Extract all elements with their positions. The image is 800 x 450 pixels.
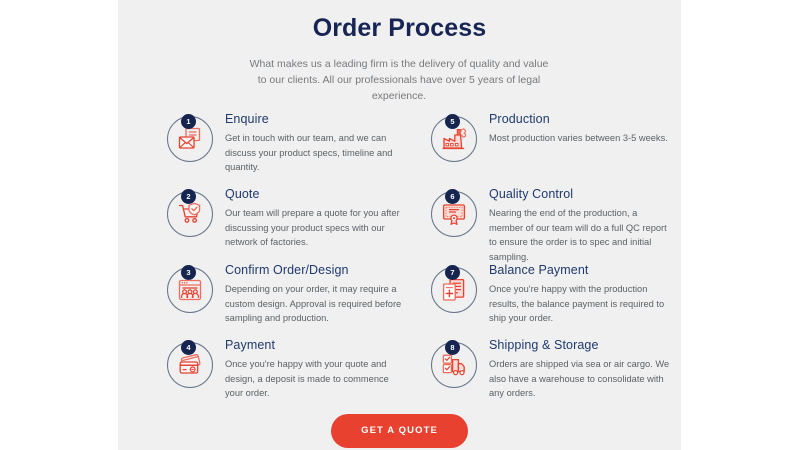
section-subtitle: What makes us a leading firm is the deli… [249, 56, 549, 104]
certificate-award-icon [441, 201, 467, 227]
credit-cards-icon [177, 352, 203, 378]
step-title-7: Balance Payment [489, 263, 673, 277]
step-icon-circle-8: 8 [431, 342, 477, 388]
step-description-1: Get in touch with our team, and we can d… [225, 131, 409, 175]
step-icon-circle-3: 3 [167, 267, 213, 313]
step-number-badge-3: 3 [181, 265, 196, 280]
step-title-3: Confirm Order/Design [225, 263, 409, 277]
step-description-2: Our team will prepare a quote for you af… [225, 206, 409, 250]
step-icon-circle-2: 2 [167, 191, 213, 237]
step-description-8: Orders are shipped via sea or air cargo.… [489, 357, 673, 401]
step-description-6: Nearing the end of the production, a mem… [489, 206, 673, 264]
step-title-4: Payment [225, 338, 409, 352]
steps-column-left: 1 Enquire Get [159, 112, 409, 401]
step-item-7: 7 Balance [423, 263, 673, 338]
step-icon-circle-4: 4 [167, 342, 213, 388]
order-process-section: Order Process What makes us a leading fi… [118, 0, 681, 450]
envelope-document-icon [177, 126, 203, 152]
step-title-8: Shipping & Storage [489, 338, 673, 352]
step-item-8: 8 Shippin [423, 338, 673, 401]
step-title-2: Quote [225, 187, 409, 201]
step-description-5: Most production varies between 3-5 weeks… [489, 131, 673, 146]
cta-container: GET A QUOTE [118, 414, 681, 448]
step-icon-circle-6: 6 [431, 191, 477, 237]
step-number-badge-7: 7 [445, 265, 460, 280]
step-icon-circle-7: 7 [431, 267, 477, 313]
page-title: Order Process [118, 14, 681, 43]
page-root: Order Process What makes us a leading fi… [0, 0, 800, 450]
step-number-badge-8: 8 [445, 340, 460, 355]
step-description-3: Depending on your order, it may require … [225, 282, 409, 326]
step-number-badge-4: 4 [181, 340, 196, 355]
step-number-badge-2: 2 [181, 189, 196, 204]
step-item-2: 2 Quote Our team will prepare a [159, 187, 409, 263]
step-description-7: Once you're happy with the production re… [489, 282, 673, 326]
steps-column-right: 5 Production M [423, 112, 673, 401]
step-description-4: Once you're happy with your quote and de… [225, 357, 409, 401]
factory-icon [441, 126, 467, 152]
step-number-badge-5: 5 [445, 114, 460, 129]
step-title-6: Quality Control [489, 187, 673, 201]
step-number-badge-1: 1 [181, 114, 196, 129]
invoice-document-icon [441, 277, 467, 303]
step-title-5: Production [489, 112, 673, 126]
step-item-6: 6 Quality Control [423, 187, 673, 263]
get-a-quote-button[interactable]: GET A QUOTE [331, 414, 468, 448]
step-item-1: 1 Enquire Get [159, 112, 409, 187]
design-browser-icon [177, 277, 203, 303]
step-item-5: 5 Production M [423, 112, 673, 187]
step-number-badge-6: 6 [445, 189, 460, 204]
shopping-cart-shield-icon [177, 201, 203, 227]
step-item-4: 4 Payment Once [159, 338, 409, 401]
delivery-truck-boxes-icon [441, 352, 467, 378]
step-icon-circle-1: 1 [167, 116, 213, 162]
step-icon-circle-5: 5 [431, 116, 477, 162]
step-item-3: 3 [159, 263, 409, 338]
step-title-1: Enquire [225, 112, 409, 126]
